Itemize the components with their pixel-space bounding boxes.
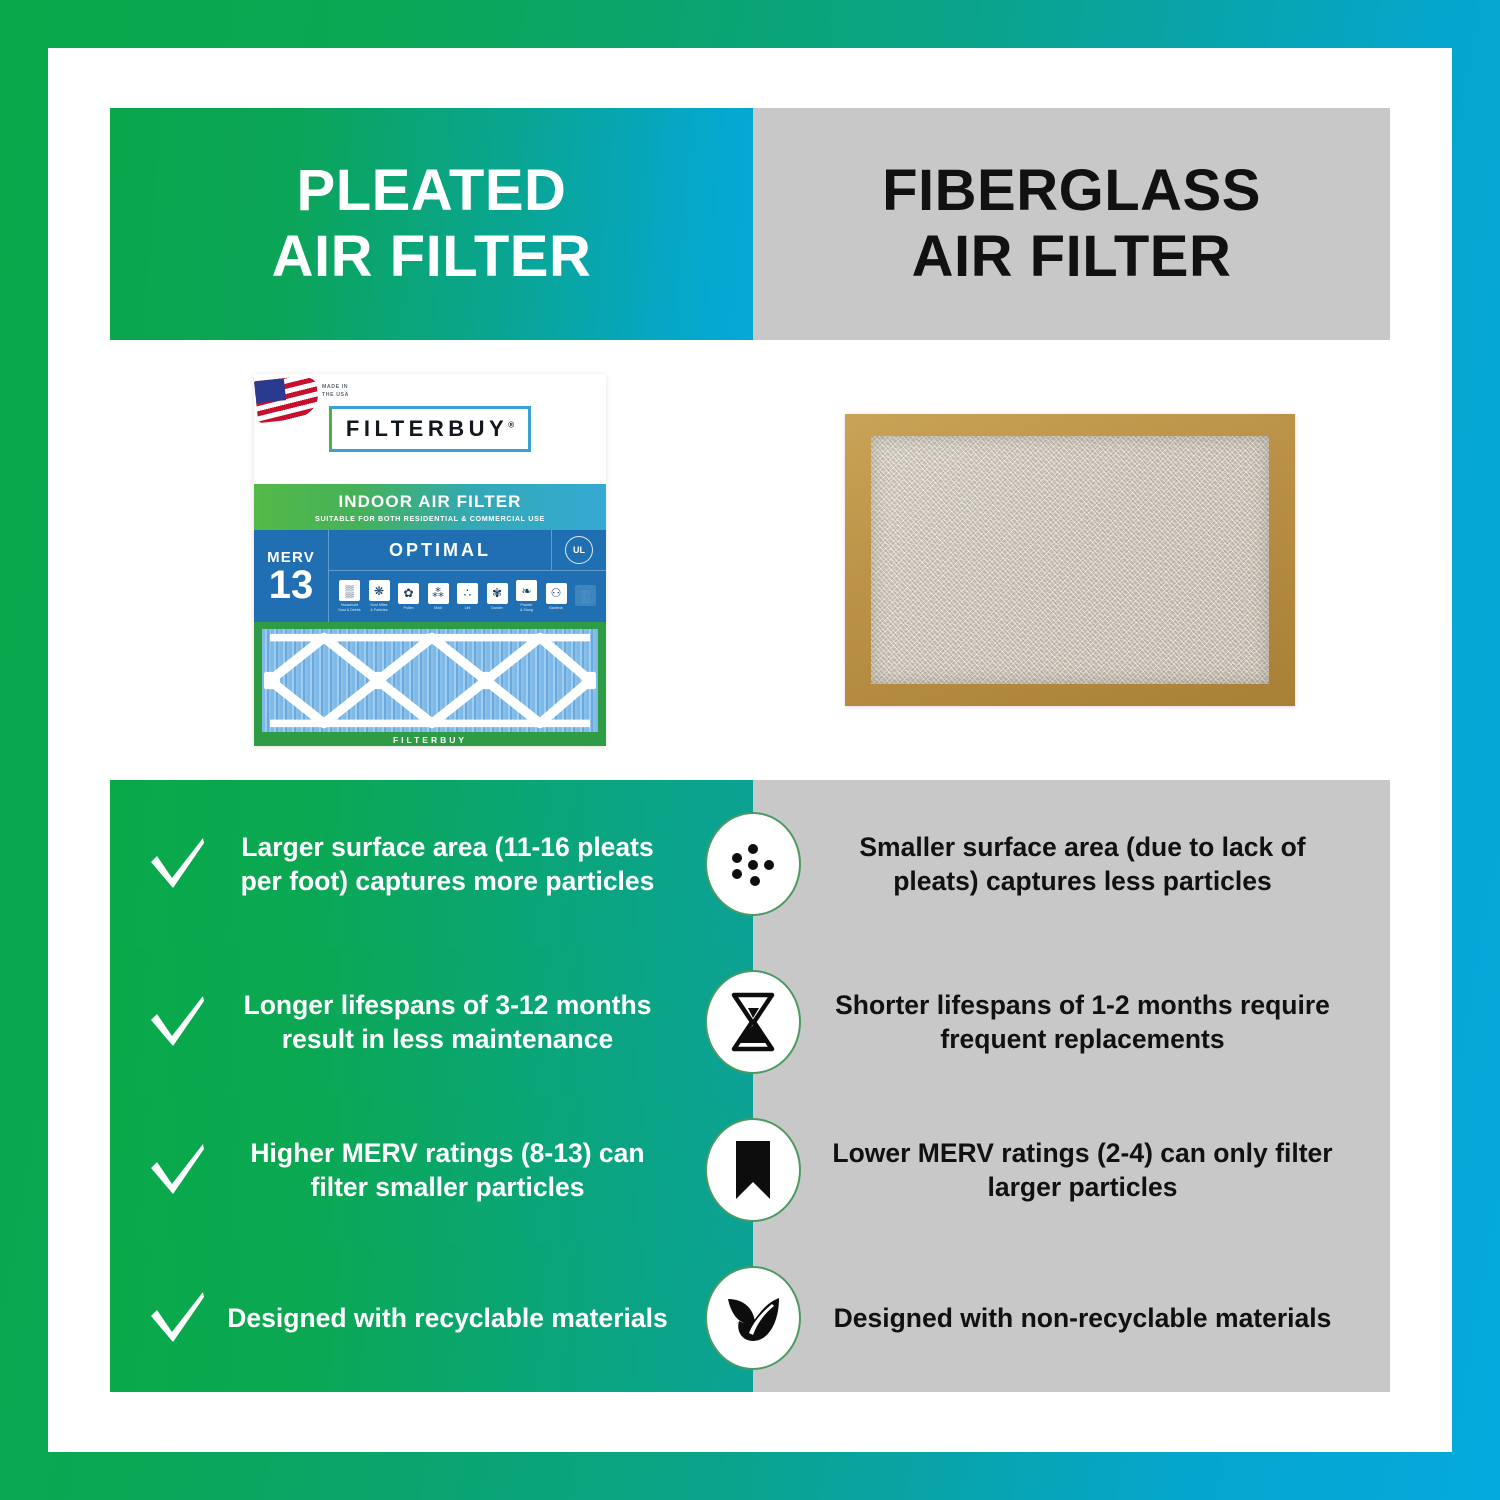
check-icon [132,1142,224,1198]
bookmark-icon [705,1118,801,1222]
filterbuy-logo-text: FILTERBUY® [346,416,514,441]
usa-flag-icon [254,375,320,423]
dander-icon: ✾ Dander [483,583,511,611]
pleated-band-title: INDOOR AIR FILTER [338,492,521,512]
dander-glyph: ✾ [487,583,508,604]
row3-fiberglass-text: Lower MERV ratings (2-4) can only filter… [831,1136,1334,1205]
lint-caption: Lint [465,606,471,611]
product-image-band: MADE IN THE USA FILTERBUY® INDOOR AIR FI… [110,340,1390,780]
white-card: PLEATED AIR FILTER FIBERGLASS AIR FILTER… [48,48,1452,1452]
fiberglass-filter-image [845,414,1295,706]
row3-pleated-text: Higher MERV ratings (8-13) can filter sm… [224,1136,727,1205]
check-icon [132,1290,224,1346]
header-fiberglass: FIBERGLASS AIR FILTER [753,108,1390,340]
feature-icon-row: ▒ Household Dust & Debris ❋ Dust Mites &… [329,571,606,622]
check-icon [132,994,224,1050]
pleated-spec-right: OPTIMAL UL ▒ Household Dust & Debris [329,530,606,622]
row1-pleated-cell: Larger surface area (11-16 pleats per fo… [110,780,753,948]
household-dust-caption: Household Dust & Debris [338,603,360,613]
row3-pleated-cell: Higher MERV ratings (8-13) can filter sm… [110,1096,753,1244]
row3-fiberglass-cell: Lower MERV ratings (2-4) can only filter… [753,1096,1390,1244]
bacteria-glyph: ⚇ [546,583,567,604]
filterbuy-logo: FILTERBUY® [329,406,531,452]
pleated-spec-panel: MERV 13 OPTIMAL UL [254,530,606,622]
table-row: Larger surface area (11-16 pleats per fo… [110,780,1390,948]
row4-pleated-text: Designed with recyclable materials [224,1301,727,1335]
check-icon [132,836,224,892]
pleated-band-subtitle: SUITABLE FOR BOTH RESIDENTIAL & COMMERCI… [315,514,545,523]
dander-caption: Dander [491,606,503,611]
pollen-glyph: ✿ [398,583,419,604]
table-row: Designed with recyclable materials Desig… [110,1244,1390,1392]
fiberglass-mesh-texture [871,436,1269,684]
pleat-texture [262,629,598,732]
extra-tile-icon: ░ [572,585,600,608]
lint-glyph: ∴ [457,583,478,604]
row4-pleated-cell: Designed with recyclable materials [110,1244,753,1392]
comparison-table: Larger surface area (11-16 pleats per fo… [110,780,1390,1392]
header-fiberglass-title: FIBERGLASS AIR FILTER [882,158,1261,289]
pleated-band: INDOOR AIR FILTER SUITABLE FOR BOTH RESI… [254,484,606,530]
pollen-caption: Pollen [404,606,414,611]
ul-cert-area: UL [551,530,606,570]
fiberglass-product-cell [750,340,1390,780]
infographic-poster: PLEATED AIR FILTER FIBERGLASS AIR FILTER… [0,0,1500,1500]
lint-icon: ∴ Lint [454,583,482,611]
bacteria-caption: Bacteria [549,606,562,611]
dust-mites-icon: ❋ Dust Mites & Particles [365,580,393,613]
dust-mites-caption: Dust Mites & Particles [370,603,387,613]
household-dust-icon: ▒ Household Dust & Debris [336,580,364,613]
table-row: Higher MERV ratings (8-13) can filter sm… [110,1096,1390,1244]
header-row: PLEATED AIR FILTER FIBERGLASS AIR FILTER [110,108,1390,340]
pleat-media-area: FILTERBUY [254,622,606,746]
household-dust-glyph: ▒ [339,580,360,601]
row2-pleated-text: Longer lifespans of 3-12 months result i… [224,988,727,1057]
row4-fiberglass-cell: Designed with non-recyclable materials [753,1244,1390,1392]
smog-caption: Powder & Smog [520,603,533,613]
mold-glyph: ⁂ [428,583,449,604]
row1-pleated-text: Larger surface area (11-16 pleats per fo… [224,830,727,899]
particles-icon [705,812,801,916]
support-grid-icon [262,629,598,732]
leaf-icon [705,1266,801,1370]
row2-fiberglass-text: Shorter lifespans of 1-2 months require … [831,988,1334,1057]
grade-label: OPTIMAL [329,540,551,561]
pleated-logo-area: MADE IN THE USA FILTERBUY® [254,374,606,484]
row2-fiberglass-cell: Shorter lifespans of 1-2 months require … [753,948,1390,1096]
header-pleated: PLEATED AIR FILTER [110,108,753,340]
header-pleated-title: PLEATED AIR FILTER [272,158,592,289]
pollen-icon: ✿ Pollen [395,583,423,611]
grade-row: OPTIMAL UL [329,530,606,571]
pleated-filter-image: MADE IN THE USA FILTERBUY® INDOOR AIR FI… [254,374,606,746]
row1-fiberglass-text: Smaller surface area (due to lack of ple… [831,830,1334,899]
merv-value: 13 [269,566,314,604]
merv-block: MERV 13 [254,530,329,622]
bacteria-icon: ⚇ Bacteria [542,583,570,611]
row1-fiberglass-cell: Smaller surface area (due to lack of ple… [753,780,1390,948]
dust-mites-glyph: ❋ [369,580,390,601]
extra-tile-glyph: ░ [575,585,596,606]
row4-fiberglass-text: Designed with non-recyclable materials [834,1301,1332,1335]
ul-cert-icon: UL [565,536,593,564]
hourglass-icon [705,970,801,1074]
pleated-bottom-brand: FILTERBUY [254,735,606,745]
smog-glyph: ❧ [516,580,537,601]
smog-icon: ❧ Powder & Smog [513,580,541,613]
made-in-usa-label: MADE IN THE USA [322,384,349,400]
table-row: Longer lifespans of 3-12 months result i… [110,948,1390,1096]
pleated-product-cell: MADE IN THE USA FILTERBUY® INDOOR AIR FI… [110,340,750,780]
row2-pleated-cell: Longer lifespans of 3-12 months result i… [110,948,753,1096]
mold-icon: ⁂ Mold [424,583,452,611]
mold-caption: Mold [434,606,442,611]
